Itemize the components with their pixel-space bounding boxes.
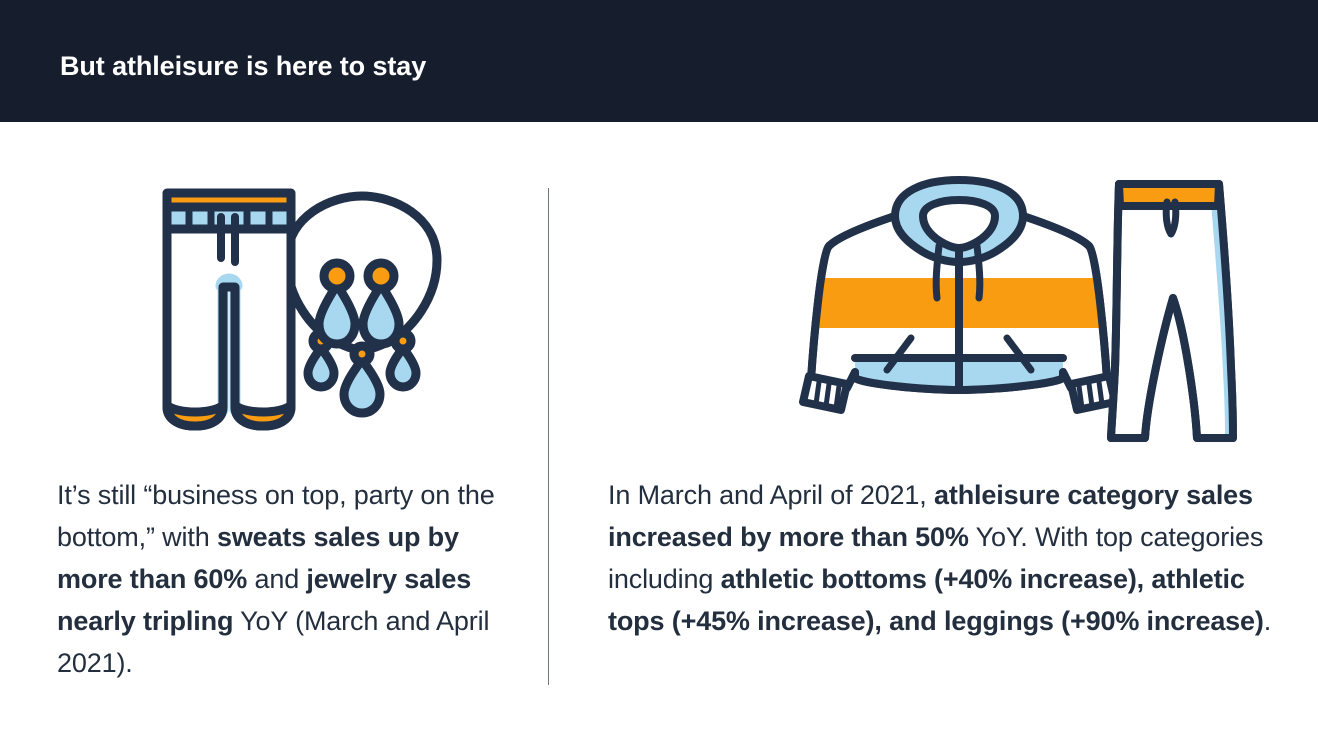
sweatpants-illustration	[1109, 172, 1239, 452]
necklace-icon	[287, 196, 437, 413]
slide: But athleisure is here to stay	[0, 0, 1318, 743]
tracksuit-illustration	[799, 172, 1109, 452]
sweatpants-icon	[1111, 184, 1233, 438]
right-paragraph: In March and April of 2021, athleisure c…	[608, 474, 1298, 642]
header-bar: But athleisure is here to stay	[0, 0, 1318, 122]
page-title: But athleisure is here to stay	[60, 49, 426, 83]
body-text: .	[1264, 606, 1271, 636]
body-text: In March and April of 2021,	[608, 480, 934, 510]
left-paragraph: It’s still “business on top, party on th…	[57, 474, 527, 684]
hoodie-icon	[803, 180, 1115, 410]
pants-and-jewelry-illustration	[155, 182, 455, 447]
right-column: In March and April of 2021, athleisure c…	[549, 122, 1318, 743]
body-text: and	[247, 564, 306, 594]
pants-icon	[167, 193, 291, 426]
content-area: It’s still “business on top, party on th…	[0, 122, 1318, 743]
left-column: It’s still “business on top, party on th…	[0, 122, 548, 743]
